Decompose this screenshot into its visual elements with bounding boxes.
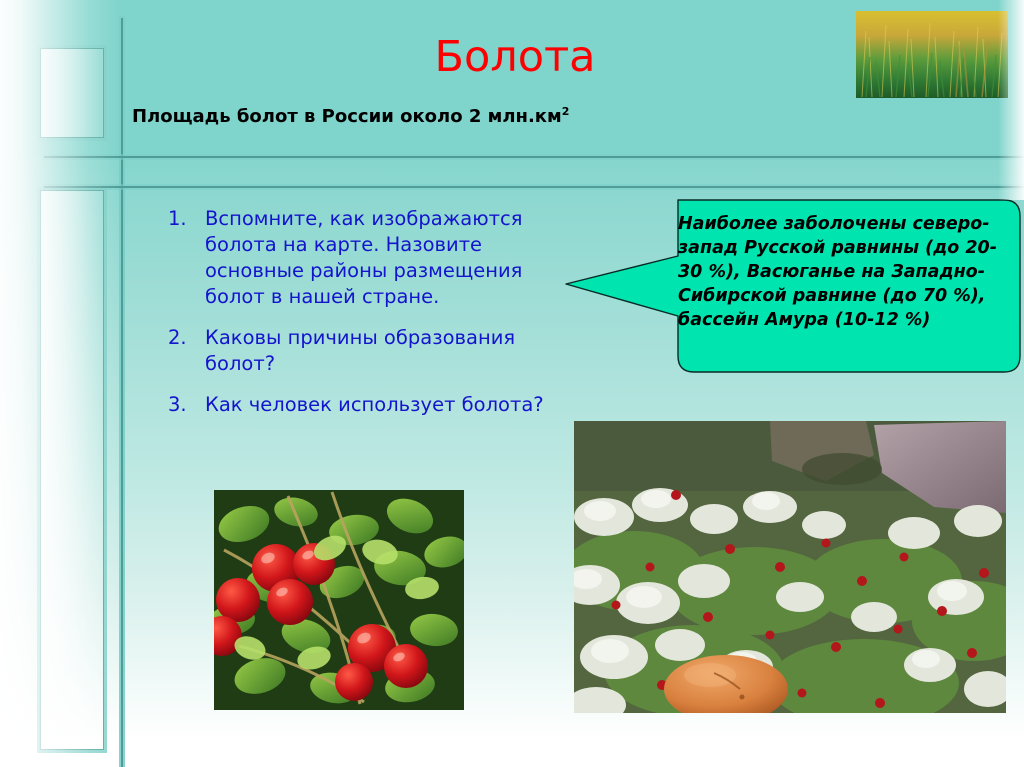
list-item-number: 1. xyxy=(168,206,196,232)
list-item-label: Каковы причины образования болот? xyxy=(205,326,515,375)
list-item-label: Вспомните, как изображаются болота на ка… xyxy=(205,207,522,308)
decorative-rectangle-tall xyxy=(40,190,104,750)
decorative-rectangle-top xyxy=(40,48,104,138)
slide-subtitle-superscript: 2 xyxy=(562,105,570,118)
list-item: 3. Как человек использует болота? xyxy=(168,392,583,418)
decorative-horizontal-line-lower xyxy=(44,186,1024,188)
list-item: 1. Вспомните, как изображаются болота на… xyxy=(168,206,583,310)
slide-subtitle: Площадь болот в России около 2 млн.км2 xyxy=(132,105,569,127)
slide-title: Болота xyxy=(300,34,730,81)
slide-subtitle-text: Площадь болот в России около 2 млн.км xyxy=(132,106,562,127)
list-item: 2. Каковы причины образования болот? xyxy=(168,325,583,377)
list-item-number: 2. xyxy=(168,325,196,351)
presentation-slide: Болота Площадь болот в России около 2 мл… xyxy=(0,0,1024,767)
marsh-grass-photo xyxy=(856,11,1008,98)
list-item-number: 3. xyxy=(168,392,196,418)
lingonberry-photo xyxy=(214,490,464,710)
decorative-horizontal-line-upper xyxy=(44,156,1024,158)
question-list: 1. Вспомните, как изображаются болота на… xyxy=(168,206,583,433)
callout-text: Наиболее заболочены северо-запад Русской… xyxy=(678,212,1008,332)
callout-balloon: Наиболее заболочены северо-запад Русской… xyxy=(560,196,1024,382)
decorative-vertical-line xyxy=(121,18,123,767)
list-item-label: Как человек использует болота? xyxy=(205,393,544,416)
tundra-lichen-mushroom-photo xyxy=(574,421,1006,713)
